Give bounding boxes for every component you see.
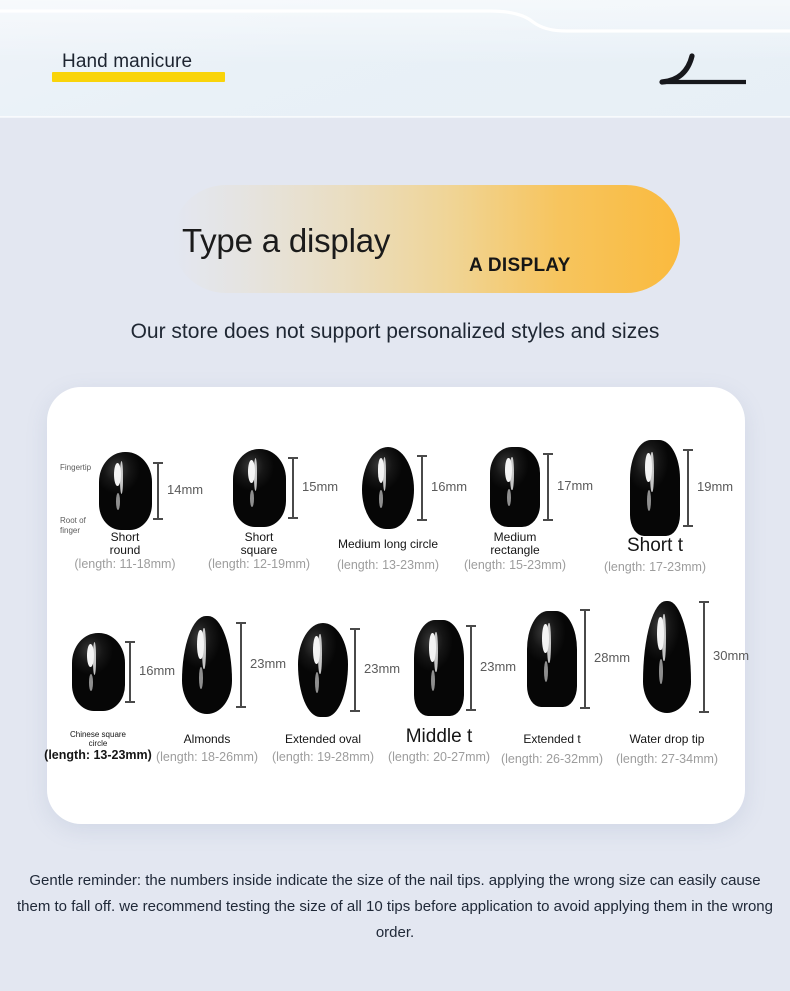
nail-shape-square-round (233, 449, 286, 527)
nail-gloss-secondary (254, 458, 258, 491)
nail-shape-square-round (99, 452, 152, 530)
nail-shape-square-round (72, 633, 125, 711)
footer-reminder: Gentle reminder: the numbers inside indi… (14, 868, 776, 946)
measurement-stem (470, 625, 472, 711)
nail-size-value: 16mm (139, 663, 175, 678)
nail-size-value: 17mm (557, 478, 593, 493)
nail-shape-coffin (414, 620, 464, 716)
nail-curve-icon (650, 46, 750, 92)
header-tab-outline (0, 0, 790, 40)
nail-gloss-secondary (318, 634, 322, 673)
nail-gloss-tertiary (544, 661, 548, 682)
measurement-stem (354, 628, 356, 712)
measurement-bar (236, 622, 246, 708)
measurement-bar (699, 601, 709, 713)
measurement-bar (125, 641, 135, 703)
nail-gloss-tertiary (659, 659, 663, 684)
nail-gloss-tertiary (315, 672, 319, 693)
measurement-bar (350, 628, 360, 712)
nail-shape-oval-long (298, 623, 348, 717)
measurement-cap-bottom (699, 711, 709, 713)
nail-gloss-secondary (383, 457, 387, 491)
nail-size-value: 19mm (697, 479, 733, 494)
measurement-cap-top (580, 609, 590, 611)
measurement-cap-top (417, 455, 427, 457)
nail-length-range: (length: 17-23mm) (565, 560, 745, 574)
measurement-bar (580, 609, 590, 709)
nail-gloss-tertiary (116, 493, 120, 510)
store-tagline: Our store does not support personalized … (0, 320, 790, 344)
measurement-cap-top (543, 453, 553, 455)
nail-name-label: Short t (575, 535, 735, 556)
measurement-cap-bottom (236, 706, 246, 708)
measurement-bar (417, 455, 427, 521)
nail-size-value: 23mm (250, 656, 286, 671)
nail-gloss-tertiary (379, 490, 383, 508)
measurement-cap-bottom (683, 525, 693, 527)
measurement-cap-top (153, 462, 163, 464)
measurement-bar (153, 462, 163, 520)
measurement-cap-bottom (125, 701, 135, 703)
nail-gloss-secondary (434, 632, 438, 672)
measurement-cap-bottom (580, 707, 590, 709)
measurement-bar (683, 449, 693, 527)
measurement-cap-bottom (543, 519, 553, 521)
nail-shape-coffin (630, 440, 680, 536)
measurement-stem (240, 622, 242, 708)
measurement-cap-top (466, 625, 476, 627)
nail-length-range: (length: 27-34mm) (577, 752, 757, 766)
measurement-stem (584, 609, 586, 709)
axis-label-fingertip: Fingertip (60, 463, 91, 473)
measurement-cap-top (288, 457, 298, 459)
nail-gloss-secondary (510, 457, 514, 491)
measurement-cap-top (683, 449, 693, 451)
banner-subtitle: A DISPLAY (469, 255, 571, 277)
nail-size-value: 28mm (594, 650, 630, 665)
nail-gloss-tertiary (507, 489, 511, 507)
nail-size-value: 15mm (302, 479, 338, 494)
nail-gloss-secondary (93, 642, 97, 675)
measurement-bar (466, 625, 476, 711)
nail-size-value: 23mm (480, 659, 516, 674)
nail-gloss-tertiary (647, 490, 651, 511)
nail-name-label: Water drop tip (587, 733, 747, 746)
measurement-stem (129, 641, 131, 703)
measurement-cap-top (236, 622, 246, 624)
nail-gloss-secondary (202, 628, 206, 669)
measurement-bar (288, 457, 298, 519)
measurement-cap-bottom (288, 517, 298, 519)
nail-name-label: Medium rectangle (435, 531, 595, 557)
nail-gloss-tertiary (89, 674, 93, 691)
nail-gloss-tertiary (250, 490, 254, 507)
nail-gloss-secondary (120, 461, 124, 494)
nail-size-value: 14mm (167, 482, 203, 497)
measurement-cap-top (125, 641, 135, 643)
measurement-stem (703, 601, 705, 713)
nail-gloss-secondary (662, 614, 665, 661)
nail-gloss-secondary (650, 452, 654, 492)
measurement-stem (547, 453, 549, 521)
measurement-cap-bottom (350, 710, 360, 712)
measurement-cap-top (350, 628, 360, 630)
nail-shape-coffin (527, 611, 577, 707)
page-header: Hand manicure (0, 0, 790, 118)
nail-shape-oval (362, 447, 414, 529)
measurement-stem (687, 449, 689, 527)
header-divider (0, 116, 790, 118)
measurement-stem (292, 457, 294, 519)
measurement-cap-bottom (417, 519, 427, 521)
measurement-cap-top (699, 601, 709, 603)
nail-size-value: 23mm (364, 661, 400, 676)
measurement-stem (157, 462, 159, 520)
banner-title: Type a display (182, 222, 390, 260)
brand-title: Hand manicure (62, 51, 192, 73)
nail-size-value: 30mm (713, 648, 749, 663)
measurement-bar (543, 453, 553, 521)
nail-gloss-tertiary (199, 667, 203, 689)
measurement-cap-bottom (153, 518, 163, 520)
brand-underline-highlight (52, 72, 225, 82)
nail-size-value: 16mm (431, 479, 467, 494)
nail-gloss-tertiary (431, 670, 435, 691)
nail-shape-rect (490, 447, 540, 527)
measurement-cap-bottom (466, 709, 476, 711)
nail-gloss-secondary (547, 623, 551, 663)
measurement-stem (421, 455, 423, 521)
